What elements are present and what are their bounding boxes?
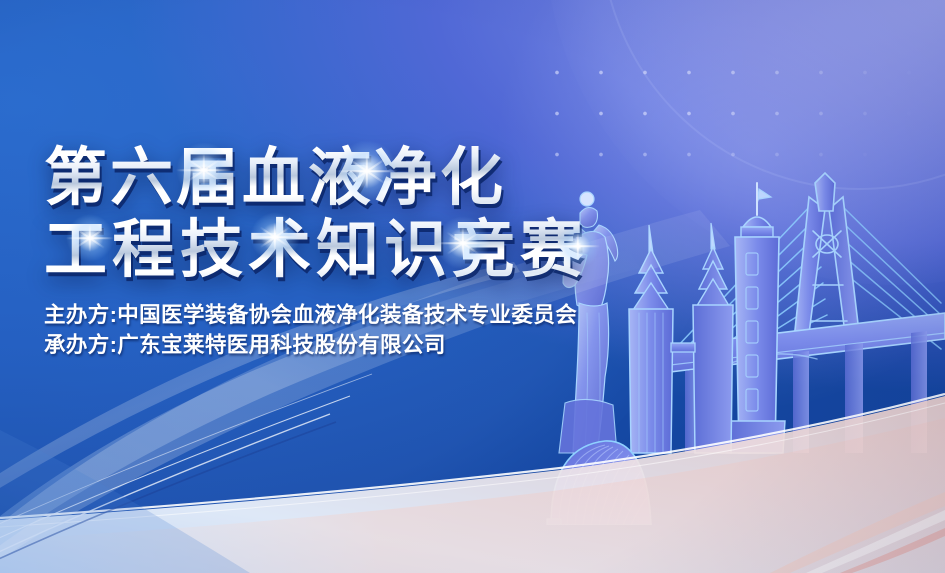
background-vignette — [0, 0, 945, 573]
banner-poster: 第六届血液净化 工程技术知识竞赛 主办方:中国医学装备协会血液净化装备技术专业委… — [0, 0, 945, 573]
